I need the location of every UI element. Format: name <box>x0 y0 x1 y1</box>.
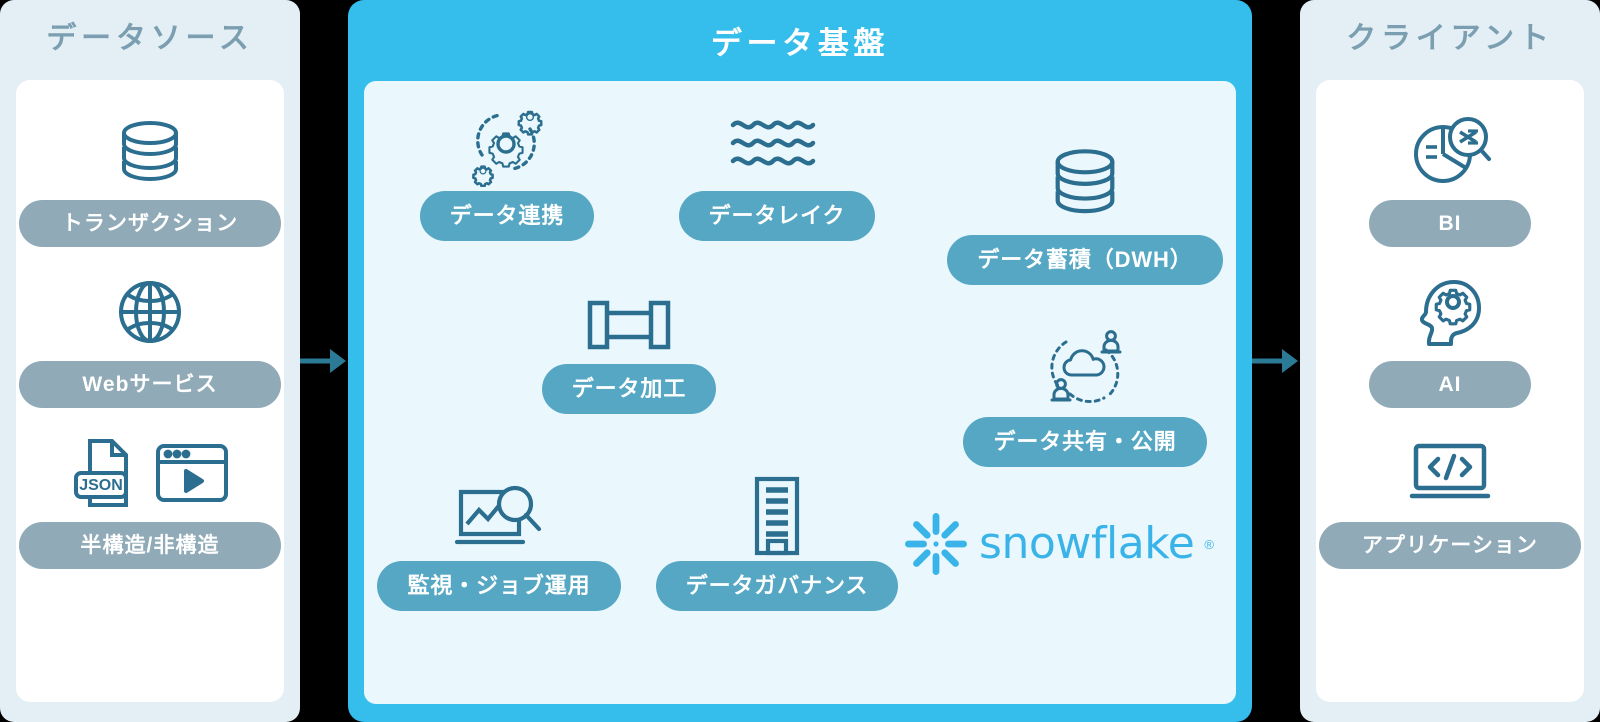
pie-chart-magnifier-icon <box>1408 108 1492 194</box>
snowflake-wordmark: snowflake <box>979 522 1194 566</box>
source-label-semi-unstructured: 半構造/非構造 <box>19 522 281 569</box>
left-panel-card: トランザクション Webサービス <box>16 80 284 702</box>
client-item-bi[interactable]: BI <box>1316 108 1584 247</box>
center-panel-title: データ基盤 <box>711 28 889 59</box>
left-panel-title: データソース <box>46 24 253 54</box>
right-panel-card: BI AI <box>1316 80 1584 702</box>
source-item-transaction[interactable]: トランザクション <box>16 108 284 247</box>
platform-label-data-integration: データ連携 <box>420 191 594 241</box>
snowflake-logo: snowflake ® <box>903 511 1214 577</box>
platform-label-data-processing: データ加工 <box>542 364 716 414</box>
office-building-icon <box>747 471 807 561</box>
chart-magnifier-icon <box>453 471 545 561</box>
left-panel-data-source: データソース トランザクション <box>0 0 300 722</box>
database-cylinder-icon <box>1045 139 1125 235</box>
snowflake-mark-icon <box>903 511 969 577</box>
source-label-web-service: Webサービス <box>19 361 281 408</box>
arrow-platform-to-client <box>1252 0 1300 722</box>
source-item-web-service[interactable]: Webサービス <box>16 269 284 408</box>
platform-node-data-lake[interactable]: データレイク <box>642 99 912 241</box>
right-panel-title: クライアント <box>1346 24 1554 54</box>
platform-node-data-integration[interactable]: データ連携 <box>372 99 642 241</box>
client-label-ai: AI <box>1369 361 1531 408</box>
waves-icon <box>729 99 825 187</box>
pipe-icon <box>587 286 671 364</box>
platform-label-monitoring-jobs: 監視・ジョブ運用 <box>377 561 620 611</box>
platform-node-monitoring-jobs[interactable]: 監視・ジョブ運用 <box>364 471 634 611</box>
database-cylinder-icon <box>112 108 188 194</box>
snowflake-registered-mark: ® <box>1204 538 1214 551</box>
center-panel-card: データ連携 データレイク <box>364 81 1236 704</box>
platform-label-data-sharing: データ共有・公開 <box>963 417 1206 467</box>
client-item-ai[interactable]: AI <box>1316 269 1584 408</box>
platform-node-dwh[interactable]: データ蓄積（DWH） <box>940 139 1230 285</box>
platform-label-data-governance: データガバナンス <box>656 561 899 611</box>
center-panel-data-platform: データ基盤 <box>348 0 1252 722</box>
platform-node-data-sharing[interactable]: データ共有・公開 <box>940 321 1230 467</box>
client-item-application[interactable]: アプリケーション <box>1316 430 1584 569</box>
right-panel-client: クライアント <box>1300 0 1600 722</box>
gears-sync-icon <box>464 99 550 187</box>
platform-node-data-processing[interactable]: データ加工 <box>494 286 764 414</box>
diagram-root: データソース トランザクション <box>0 0 1600 722</box>
platform-label-data-lake: データレイク <box>679 191 876 241</box>
platform-label-dwh: データ蓄積（DWH） <box>947 235 1222 285</box>
client-label-application: アプリケーション <box>1319 522 1581 569</box>
source-label-transaction: トランザクション <box>19 200 281 247</box>
json-icon-text: JSON <box>79 477 123 494</box>
cloud-share-users-icon <box>1038 321 1132 417</box>
source-item-semi-unstructured[interactable]: JSON 半構造/非構造 <box>16 430 284 569</box>
json-file-and-media-window-icon: JSON <box>70 430 230 516</box>
code-brackets-screen-icon <box>1408 430 1492 516</box>
arrow-source-to-platform <box>300 0 348 722</box>
head-gear-ai-icon <box>1413 269 1487 355</box>
client-label-bi: BI <box>1369 200 1531 247</box>
platform-node-data-governance[interactable]: データガバナンス <box>642 471 912 611</box>
globe-icon <box>114 269 186 355</box>
